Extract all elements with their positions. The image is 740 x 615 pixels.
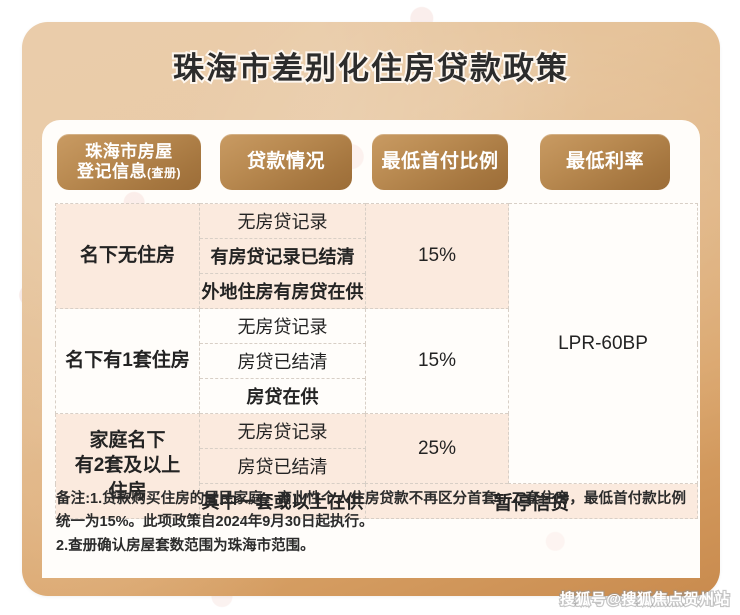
- policy-table: 名下无住房 无房贷记录 15% LPR-60BP 有房贷记录已结清 外地住房有房…: [55, 203, 698, 519]
- note-line-2: 2.查册确认房屋套数范围为珠海市范围。: [56, 535, 686, 558]
- cell-loan-1-1: 无房贷记录: [200, 204, 366, 239]
- column-header-min-rate: 最低利率: [540, 134, 670, 190]
- column-header-registration-note: (查册): [147, 166, 181, 180]
- column-header-registration-text: 珠海市房屋 登记信息(查册): [77, 142, 181, 182]
- cell-loan-3-2: 房贷已结清: [200, 449, 366, 484]
- column-header-loan-status: 贷款情况: [220, 134, 352, 190]
- cell-loan-1-2: 有房贷记录已结清: [200, 239, 366, 274]
- page-title: 珠海市差别化住房贷款政策: [173, 43, 569, 88]
- note-line-1: 备注:1.贷款购买住房的居民家庭，商业性个人住房贷款不再区分首套、二套住房，最低…: [56, 488, 686, 535]
- table-header-row: 珠海市房屋 登记信息(查册) 贷款情况 最低首付比例 最低利率: [42, 134, 700, 192]
- column-header-registration: 珠海市房屋 登记信息(查册): [57, 134, 201, 190]
- page-title-container: 珠海市差别化住房贷款政策: [22, 34, 720, 96]
- cell-category-3-line1: 家庭名下: [89, 430, 165, 451]
- cell-category-2: 名下有1套住房: [56, 309, 200, 414]
- cell-min-rate: LPR-60BP: [509, 204, 698, 484]
- column-header-min-down-payment: 最低首付比例: [372, 134, 508, 190]
- watermark: 搜狐号@搜狐焦点贺州站: [560, 588, 730, 609]
- cell-loan-2-2: 房贷已结清: [200, 344, 366, 379]
- cell-category-3-line2: 有2套及以上: [75, 455, 181, 476]
- cell-loan-2-1: 无房贷记录: [200, 309, 366, 344]
- cell-loan-3-1: 无房贷记录: [200, 414, 366, 449]
- table-panel: 珠海市房屋 登记信息(查册) 贷款情况 最低首付比例 最低利率 名下无住房 无房…: [42, 120, 700, 578]
- cell-down-payment-3: 25%: [366, 414, 509, 484]
- notes-block: 备注:1.贷款购买住房的居民家庭，商业性个人住房贷款不再区分首套、二套住房，最低…: [56, 488, 686, 558]
- cell-loan-1-3: 外地住房有房贷在供: [200, 274, 366, 309]
- cell-loan-2-3: 房贷在供: [200, 379, 366, 414]
- cell-category-1: 名下无住房: [56, 204, 200, 309]
- table-row: 名下无住房 无房贷记录 15% LPR-60BP: [56, 204, 698, 239]
- cell-down-payment-1: 15%: [366, 204, 509, 309]
- cell-down-payment-2: 15%: [366, 309, 509, 414]
